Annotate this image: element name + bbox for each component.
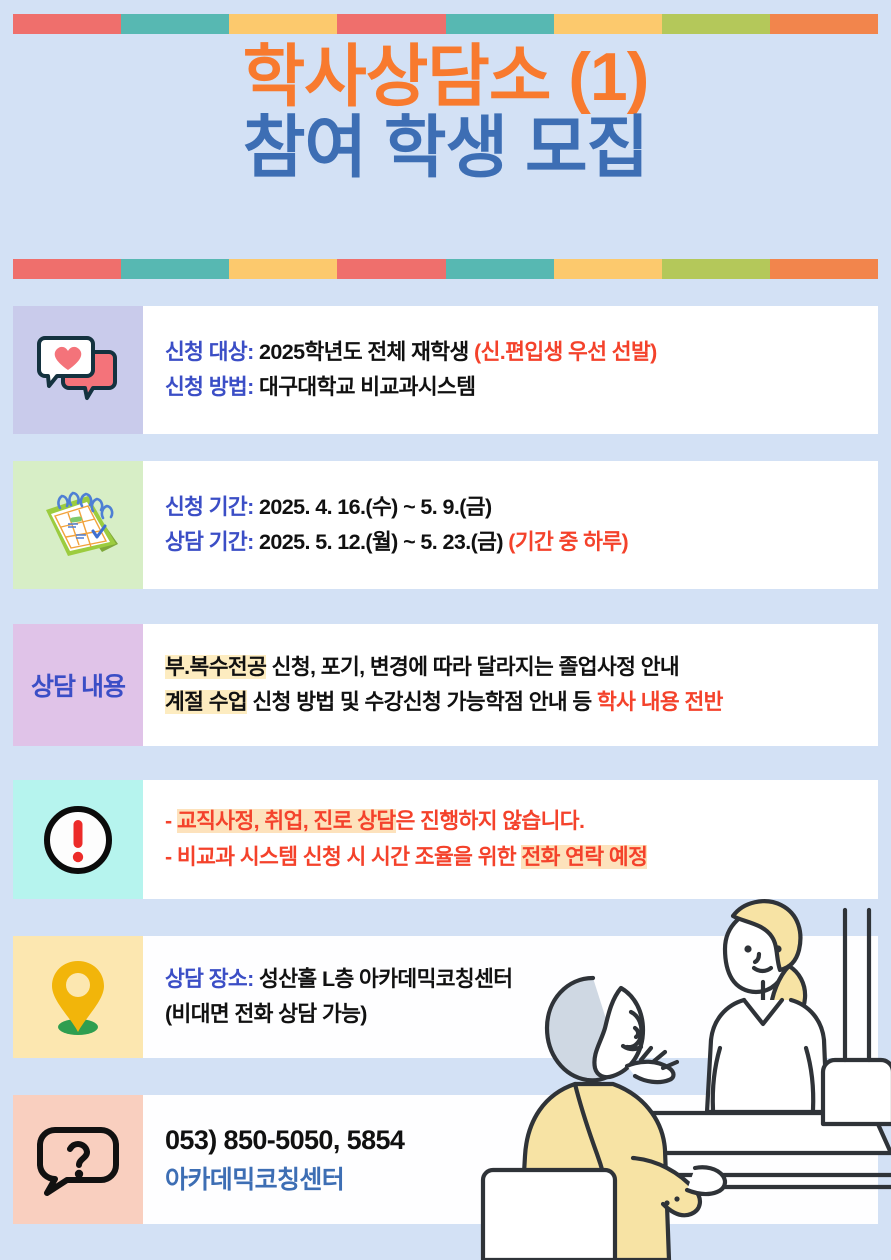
text-run: 상담 장소: — [165, 967, 259, 991]
text-run: 신청 대상: — [165, 340, 259, 364]
text-run: 2025학년도 전체 재학생 — [259, 340, 474, 364]
location-pin-icon — [47, 957, 109, 1037]
text-run: (신.편입생 우선 선발) — [474, 340, 657, 364]
colorbar-segment — [554, 259, 662, 279]
text-run: 성산홀 L층 아카데믹코칭센터 — [259, 967, 512, 991]
icon-cell-content: 상담 내용 — [13, 624, 143, 746]
text-run: 2025. 5. 12.(월) ~ 5. 23.(금) — [259, 530, 508, 554]
text-line: 상담 장소: 성산홀 L층 아카데믹코칭센터 — [165, 962, 878, 998]
question-bubble-icon — [37, 1124, 119, 1196]
icon-cell-notice — [13, 780, 143, 899]
body-cell-application: 신청 대상: 2025학년도 전체 재학생 (신.편입생 우선 선발) 신청 방… — [143, 306, 878, 434]
icon-cell-period — [13, 461, 143, 589]
text-line: - 교직사정, 취업, 진로 상담은 진행하지 않습니다. — [165, 804, 878, 840]
text-run: - — [165, 809, 177, 833]
text-run: 전화 연락 예정 — [521, 845, 647, 869]
text-line: (비대면 전화 상담 가능) — [165, 997, 878, 1033]
body-cell-contact: 053) 850-5050, 5854 아카데믹코칭센터 — [143, 1095, 878, 1224]
colorbar-segment — [13, 259, 121, 279]
colorbar-segment — [13, 14, 121, 34]
text-run: (비대면 전화 상담 가능) — [165, 1002, 367, 1026]
title-line-2: 참여 학생 모집 — [0, 113, 891, 184]
colorbar-segment — [121, 14, 229, 34]
text-run: 부.복수전공 — [165, 655, 266, 679]
colorbar-segment — [770, 14, 878, 34]
text-line: 계절 수업 신청 방법 및 수강신청 가능학점 안내 등 학사 내용 전반 — [165, 685, 878, 721]
info-row-period: 신청 기간: 2025. 4. 16.(수) ~ 5. 9.(금) 상담 기간:… — [13, 461, 878, 589]
text-run: 신청 방법 및 수강신청 가능학점 안내 등 — [247, 690, 597, 714]
colorbar-segment — [229, 14, 337, 34]
text-line: 신청 대상: 2025학년도 전체 재학생 (신.편입생 우선 선발) — [165, 335, 878, 371]
text-line: 053) 850-5050, 5854 — [165, 1120, 878, 1161]
content-label: 상담 내용 — [31, 667, 125, 703]
exclamation-icon — [41, 803, 115, 877]
text-line: 신청 기간: 2025. 4. 16.(수) ~ 5. 9.(금) — [165, 490, 878, 526]
text-run: 대구대학교 비교과시스템 — [259, 375, 475, 399]
text-run: 신청 방법: — [165, 375, 259, 399]
title-line-1: 학사상담소 (1) — [0, 42, 891, 113]
text-run: 아카데믹코칭센터 — [165, 1166, 344, 1194]
colorbar-segment — [662, 259, 770, 279]
info-row-contact: 053) 850-5050, 5854 아카데믹코칭센터 — [13, 1095, 878, 1224]
body-cell-period: 신청 기간: 2025. 4. 16.(수) ~ 5. 9.(금) 상담 기간:… — [143, 461, 878, 589]
icon-cell-location — [13, 936, 143, 1058]
info-row-notice: - 교직사정, 취업, 진로 상담은 진행하지 않습니다. - 비교과 시스템 … — [13, 780, 878, 899]
text-run: 학사 내용 전반 — [597, 690, 723, 714]
colorbar-segment — [446, 259, 554, 279]
colorbar-segment — [770, 259, 878, 279]
text-line: 아카데믹코칭센터 — [165, 1161, 878, 1200]
colorbar-segment — [121, 259, 229, 279]
icon-cell-contact — [13, 1095, 143, 1224]
info-row-location: 상담 장소: 성산홀 L층 아카데믹코칭센터 (비대면 전화 상담 가능) — [13, 936, 878, 1058]
info-row-application: 신청 대상: 2025학년도 전체 재학생 (신.편입생 우선 선발) 신청 방… — [13, 306, 878, 434]
colorbar-segment — [229, 259, 337, 279]
colorbar-segment — [662, 14, 770, 34]
text-line: 상담 기간: 2025. 5. 12.(월) ~ 5. 23.(금) (기간 중… — [165, 525, 878, 561]
body-cell-notice: - 교직사정, 취업, 진로 상담은 진행하지 않습니다. - 비교과 시스템 … — [143, 780, 878, 899]
body-cell-location: 상담 장소: 성산홀 L층 아카데믹코칭센터 (비대면 전화 상담 가능) — [143, 936, 878, 1058]
icon-cell-application — [13, 306, 143, 434]
colorbar-segment — [554, 14, 662, 34]
text-run: 은 진행하지 않습니다. — [396, 809, 585, 833]
text-line: - 비교과 시스템 신청 시 시간 조율을 위한 전화 연락 예정 — [165, 840, 878, 876]
colorbar-segment — [446, 14, 554, 34]
text-run: 상담 기간: — [165, 530, 259, 554]
calendar-icon — [32, 486, 124, 564]
decorative-colorbar-bottom — [13, 259, 878, 279]
info-row-content: 상담 내용 부.복수전공 신청, 포기, 변경에 따라 달라지는 졸업사정 안내… — [13, 624, 878, 746]
text-run: 2025. 4. 16.(수) ~ 5. 9.(금) — [259, 495, 492, 519]
text-run: 053) 850-5050, 5854 — [165, 1125, 404, 1155]
colorbar-segment — [337, 14, 445, 34]
text-run: 신청, 포기, 변경에 따라 달라지는 졸업사정 안내 — [266, 655, 679, 679]
text-run: - 비교과 시스템 신청 시 시간 조율을 위한 — [165, 845, 521, 869]
body-cell-content: 부.복수전공 신청, 포기, 변경에 따라 달라지는 졸업사정 안내 계절 수업… — [143, 624, 878, 746]
text-line: 신청 방법: 대구대학교 비교과시스템 — [165, 370, 878, 406]
page-title: 학사상담소 (1) 참여 학생 모집 — [0, 42, 891, 183]
text-line: 부.복수전공 신청, 포기, 변경에 따라 달라지는 졸업사정 안내 — [165, 650, 878, 686]
text-run: (기간 중 하루) — [508, 530, 628, 554]
decorative-colorbar-top — [13, 14, 878, 34]
colorbar-segment — [337, 259, 445, 279]
text-run: 신청 기간: — [165, 495, 259, 519]
text-run: 교직사정, 취업, 진로 상담 — [177, 809, 396, 833]
chat-heart-icon — [35, 334, 121, 406]
text-run: 계절 수업 — [165, 690, 247, 714]
